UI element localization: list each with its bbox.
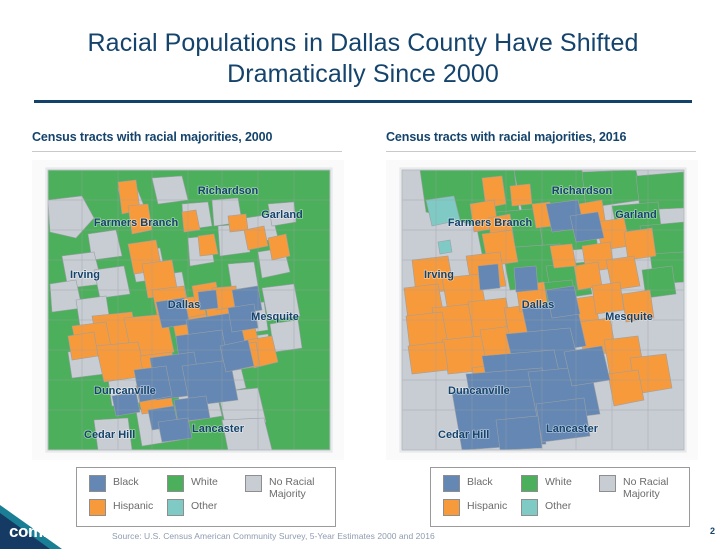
legend-item-other: Other xyxy=(167,499,245,516)
city-label: Richardson xyxy=(198,185,259,197)
legend-swatch-other xyxy=(167,499,184,516)
city-label: Irving xyxy=(70,269,100,281)
page-title-line2: Dramatically Since 2000 xyxy=(0,59,726,90)
panel-divider xyxy=(32,151,342,152)
panel-heading-2000: Census tracts with racial majorities, 20… xyxy=(24,130,354,144)
source-citation: Source: U.S. Census American Community S… xyxy=(112,531,435,541)
city-label: Duncanville xyxy=(94,385,156,397)
city-label: Farmers Branch xyxy=(448,217,533,229)
city-label: Richardson xyxy=(552,185,613,197)
legend-swatch-no-majority xyxy=(245,475,262,492)
map-panel-2016: Census tracts with racial majorities, 20… xyxy=(378,130,708,530)
legend-label-black: Black xyxy=(467,475,493,489)
city-label: Garland xyxy=(615,209,657,221)
city-label: Mesquite xyxy=(605,311,653,323)
legend-item-no-majority: No Racial Majority xyxy=(245,475,335,500)
choropleth-map-2016[interactable]: Richardson Garland Farmers Branch Irving… xyxy=(386,160,698,460)
people-icon xyxy=(26,499,74,521)
legend-swatch-other xyxy=(521,499,538,516)
legend-label-white: White xyxy=(191,475,218,489)
legend-label-hispanic: Hispanic xyxy=(113,499,153,513)
city-label: Farmers Branch xyxy=(94,217,179,229)
legend-item-black: Black xyxy=(443,475,521,492)
city-label: Lancaster xyxy=(546,423,599,435)
city-label: Duncanville xyxy=(448,385,510,397)
legend-label-no-majority: No Racial Majority xyxy=(623,475,689,500)
page-title-line1: Racial Populations in Dallas County Have… xyxy=(0,28,726,59)
page-number: 2 xyxy=(710,526,715,536)
panel-divider xyxy=(386,151,696,152)
brand-corner: commit! xyxy=(0,469,118,549)
legend-swatch-white xyxy=(167,475,184,492)
city-label: Dallas xyxy=(522,299,554,311)
legend-swatch-no-majority xyxy=(599,475,616,492)
city-label: Dallas xyxy=(168,299,200,311)
panel-heading-2016: Census tracts with racial majorities, 20… xyxy=(378,130,708,144)
legend-swatch-white xyxy=(521,475,538,492)
city-label: Irving xyxy=(424,269,454,281)
map-svg-2000[interactable]: Richardson Garland Farmers Branch Irving… xyxy=(32,160,344,460)
title-divider xyxy=(34,100,692,103)
city-label: Garland xyxy=(261,209,303,221)
map-svg-2016[interactable]: Richardson Garland Farmers Branch Irving… xyxy=(386,160,698,460)
city-label: Lancaster xyxy=(192,423,245,435)
legend-label-other: Other xyxy=(191,499,217,513)
legend-label-other: Other xyxy=(545,499,571,513)
city-label: Cedar Hill xyxy=(438,429,489,441)
brand-wordmark: commit! xyxy=(9,522,72,542)
legend-item-white: White xyxy=(521,475,599,492)
legend-label-white: White xyxy=(545,475,572,489)
legend-item-hispanic: Hispanic xyxy=(443,499,521,516)
page-title: Racial Populations in Dallas County Have… xyxy=(0,28,726,90)
legend-item-white: White xyxy=(167,475,245,492)
legend-swatch-black xyxy=(443,475,460,492)
legend-item-no-majority: No Racial Majority xyxy=(599,475,689,500)
legend-swatch-hispanic xyxy=(443,499,460,516)
legend-label-hispanic: Hispanic xyxy=(467,499,507,513)
legend-label-no-majority: No Racial Majority xyxy=(269,475,335,500)
map-legend-2016: Black White No Racial Majority Hispanic … xyxy=(430,467,690,527)
city-label: Cedar Hill xyxy=(84,429,135,441)
legend-item-other: Other xyxy=(521,499,599,516)
city-label: Mesquite xyxy=(251,311,299,323)
choropleth-map-2000[interactable]: Richardson Garland Farmers Branch Irving… xyxy=(32,160,344,460)
